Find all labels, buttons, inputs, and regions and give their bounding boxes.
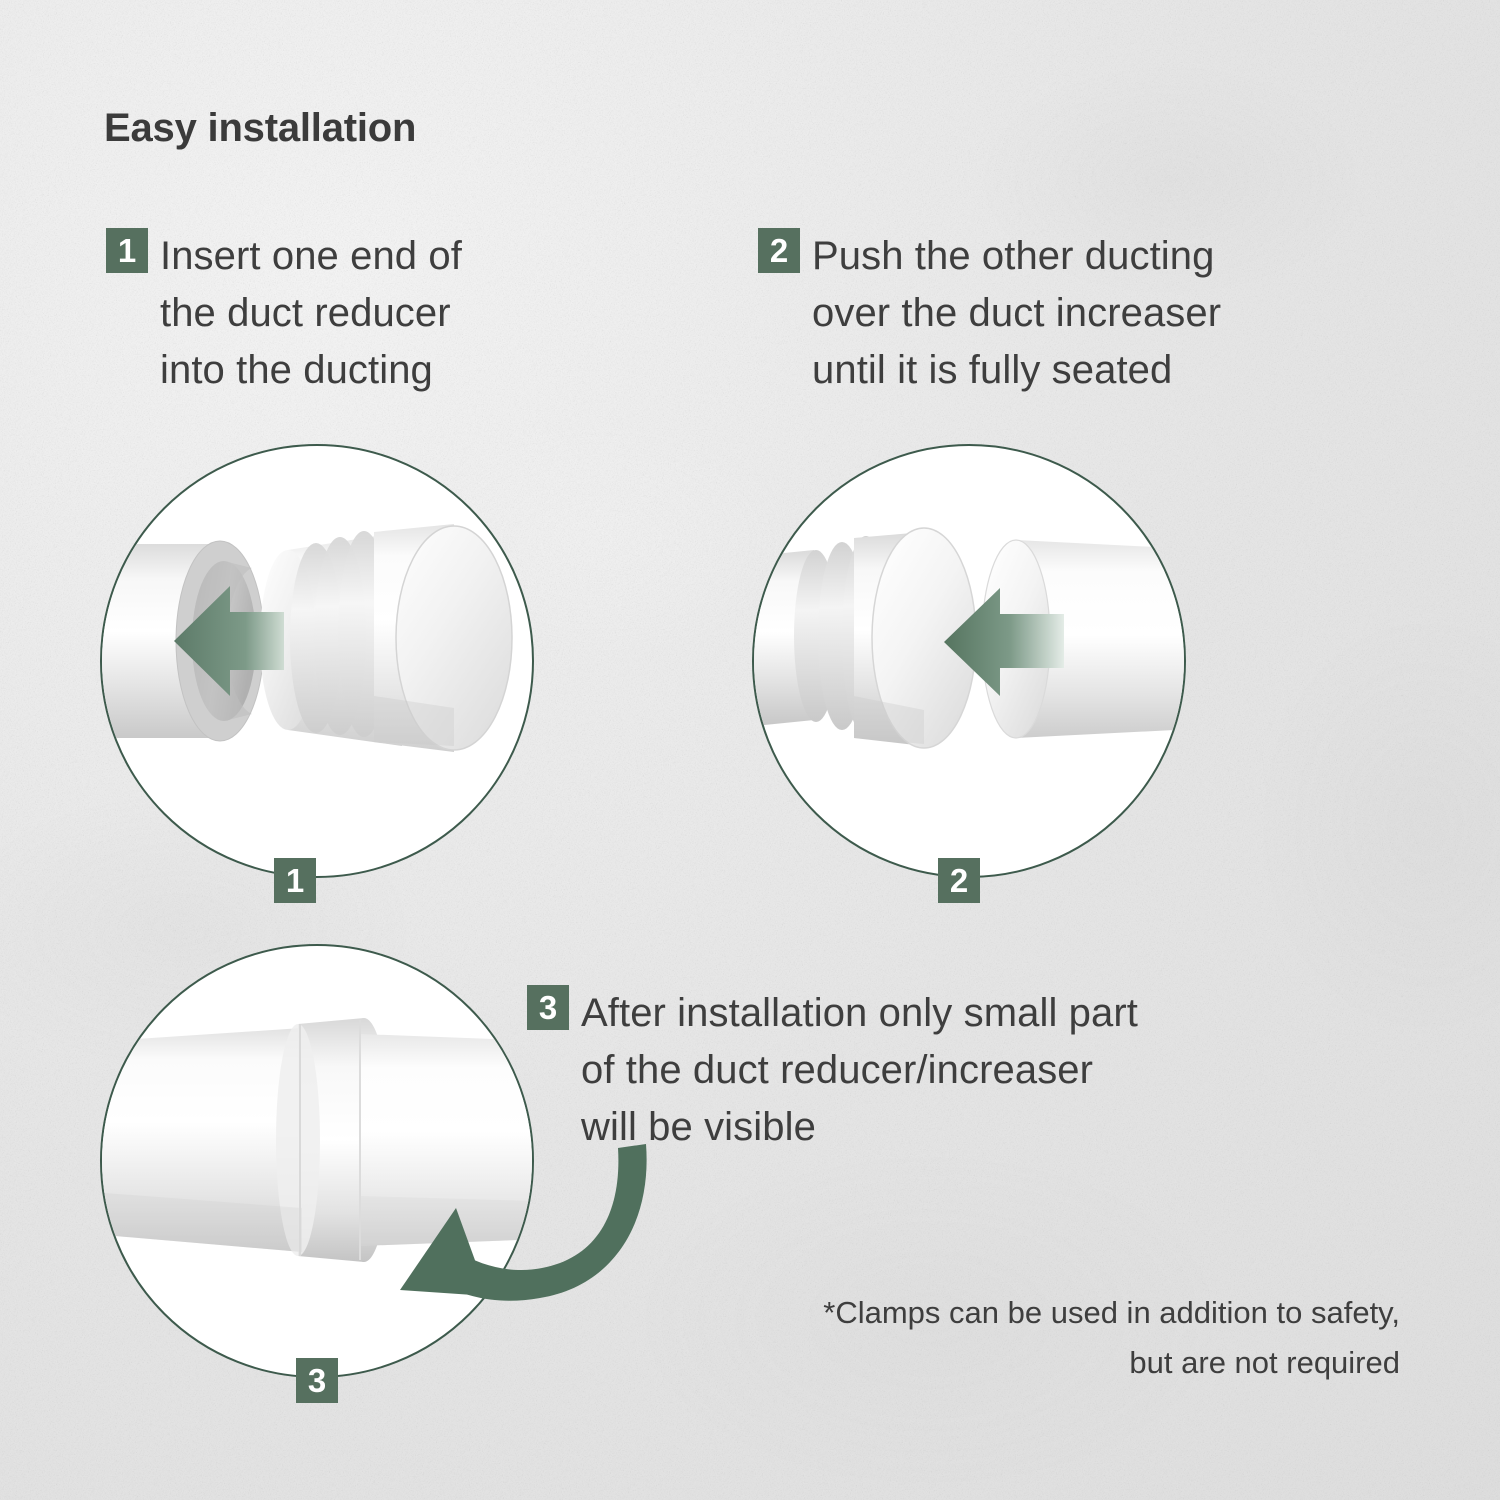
step-3-line-3: will be visible bbox=[581, 1099, 1138, 1156]
step-2-line-3: until it is fully seated bbox=[812, 342, 1221, 399]
step-1-line-2: the duct reducer bbox=[160, 285, 462, 342]
step-2-number-badge: 2 bbox=[758, 228, 800, 273]
footnote: *Clamps can be used in addition to safet… bbox=[823, 1288, 1400, 1388]
step-1-text-block: 1Insert one end ofthe duct reducerinto t… bbox=[106, 228, 462, 399]
step-2-lines: Push the other ductingover the duct incr… bbox=[812, 228, 1221, 399]
duct-reducer-insert-illustration bbox=[102, 446, 534, 878]
step-2-figure: 2 bbox=[752, 444, 1186, 878]
step-1-line-3: into the ducting bbox=[160, 342, 462, 399]
step-1-number-badge: 1 bbox=[106, 228, 148, 273]
step-3-line-1: After installation only small part bbox=[581, 985, 1138, 1042]
step-1-lines: Insert one end ofthe duct reducerinto th… bbox=[160, 228, 462, 399]
step-2-figure-circle bbox=[752, 444, 1186, 878]
step-2-figure-label: 2 bbox=[938, 858, 980, 903]
step-3-line-2: of the duct reducer/increaser bbox=[581, 1042, 1138, 1099]
footnote-line-2: but are not required bbox=[823, 1338, 1400, 1388]
step-2-line-1: Push the other ducting bbox=[812, 228, 1221, 285]
step-3-text-block: 3After installation only small partof th… bbox=[527, 985, 1138, 1156]
page-title: Easy installation bbox=[104, 106, 416, 151]
footnote-line-1: *Clamps can be used in addition to safet… bbox=[823, 1288, 1400, 1338]
step-1-figure: 1 bbox=[100, 444, 534, 878]
ducting-push-over-increaser-illustration bbox=[754, 446, 1186, 878]
step-1-figure-circle bbox=[100, 444, 534, 878]
step-3-lines: After installation only small partof the… bbox=[581, 985, 1138, 1156]
step-3-number-badge: 3 bbox=[527, 985, 569, 1030]
step-3-figure-label: 3 bbox=[296, 1358, 338, 1403]
step-1-figure-label: 1 bbox=[274, 858, 316, 903]
curved-arrow-icon bbox=[370, 1130, 660, 1330]
step-2-line-2: over the duct increaser bbox=[812, 285, 1221, 342]
step-2-text-block: 2Push the other ductingover the duct inc… bbox=[758, 228, 1221, 399]
step-1-line-1: Insert one end of bbox=[160, 228, 462, 285]
